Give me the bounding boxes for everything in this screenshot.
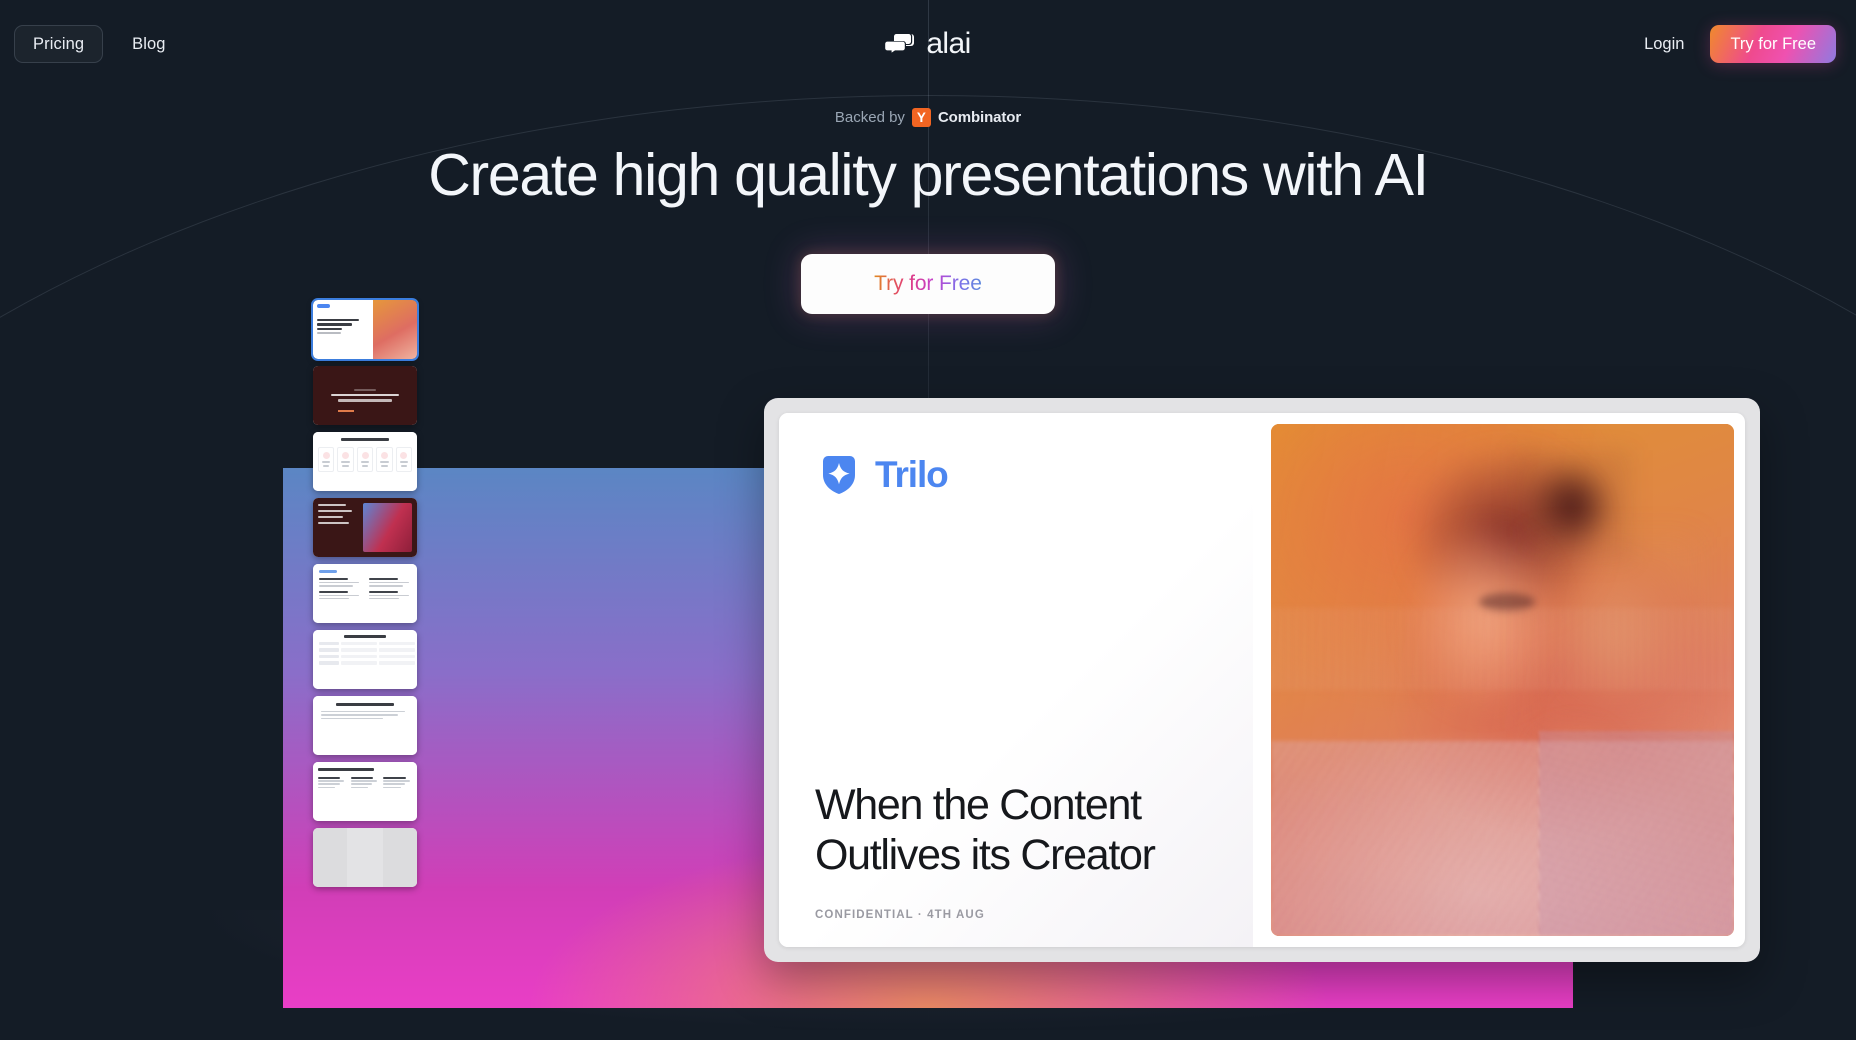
hero-cta-container: Try for Free (0, 254, 1856, 314)
slide-thumbnail-9[interactable] (313, 828, 417, 887)
trilo-logo: Trilo (815, 451, 1217, 499)
slide-thumbnail-rail[interactable] (313, 300, 417, 887)
active-slide-canvas[interactable]: Trilo When the Content Outlives its Crea… (779, 413, 1745, 947)
nav-item-pricing[interactable]: Pricing (14, 25, 103, 63)
slide-thumbnail-6[interactable] (313, 630, 417, 689)
nav-item-blog[interactable]: Blog (113, 25, 184, 63)
login-button[interactable]: Login (1636, 29, 1692, 60)
slide-title: When the Content Outlives its Creator (815, 781, 1217, 881)
slide-thumbnail-7[interactable] (313, 696, 417, 755)
hero-try-for-free-button[interactable]: Try for Free (801, 254, 1055, 314)
slide-meta-label: CONFIDENTIAL · 4TH AUG (815, 909, 1217, 921)
layered-rectangles-icon (885, 33, 915, 55)
slide-thumbnail-4[interactable] (313, 498, 417, 557)
top-navbar: Pricing Blog alai Login Try for Free (0, 0, 1856, 88)
hero-try-for-free-label: Try for Free (874, 272, 982, 296)
brand-name-label: alai (926, 27, 970, 61)
product-showcase: Trilo When the Content Outlives its Crea… (283, 468, 1573, 1008)
navbar-try-for-free-button[interactable]: Try for Free (1710, 25, 1836, 63)
trilo-logo-label: Trilo (875, 454, 948, 496)
slide-text-column: Trilo When the Content Outlives its Crea… (779, 413, 1253, 947)
y-combinator-label: Combinator (938, 109, 1021, 126)
navbar-right-actions: Login Try for Free (1636, 25, 1836, 63)
slide-thumbnail-5[interactable] (313, 564, 417, 623)
backed-by-yc-badge: Backed by Y Combinator (0, 108, 1856, 127)
page-headline: Create high quality presentations with A… (0, 140, 1856, 212)
slide-editor-window: Trilo When the Content Outlives its Crea… (764, 398, 1760, 962)
slide-thumbnail-2[interactable] (313, 366, 417, 425)
y-combinator-icon: Y (912, 108, 931, 127)
page-root: Pricing Blog alai Login Try for Free (0, 0, 1856, 1040)
slide-thumbnail-3[interactable] (313, 432, 417, 491)
navbar-left-links: Pricing Blog (14, 25, 185, 63)
backed-by-label: Backed by (835, 109, 905, 126)
shield-sparkle-icon (815, 451, 863, 499)
brand-logo[interactable]: alai (0, 27, 1856, 61)
slide-thumbnail-8[interactable] (313, 762, 417, 821)
nav-item-blog-label: Blog (132, 35, 165, 54)
nav-item-pricing-label: Pricing (33, 35, 84, 54)
blurred-portrait-photo (1271, 424, 1734, 936)
slide-image (1271, 424, 1734, 936)
